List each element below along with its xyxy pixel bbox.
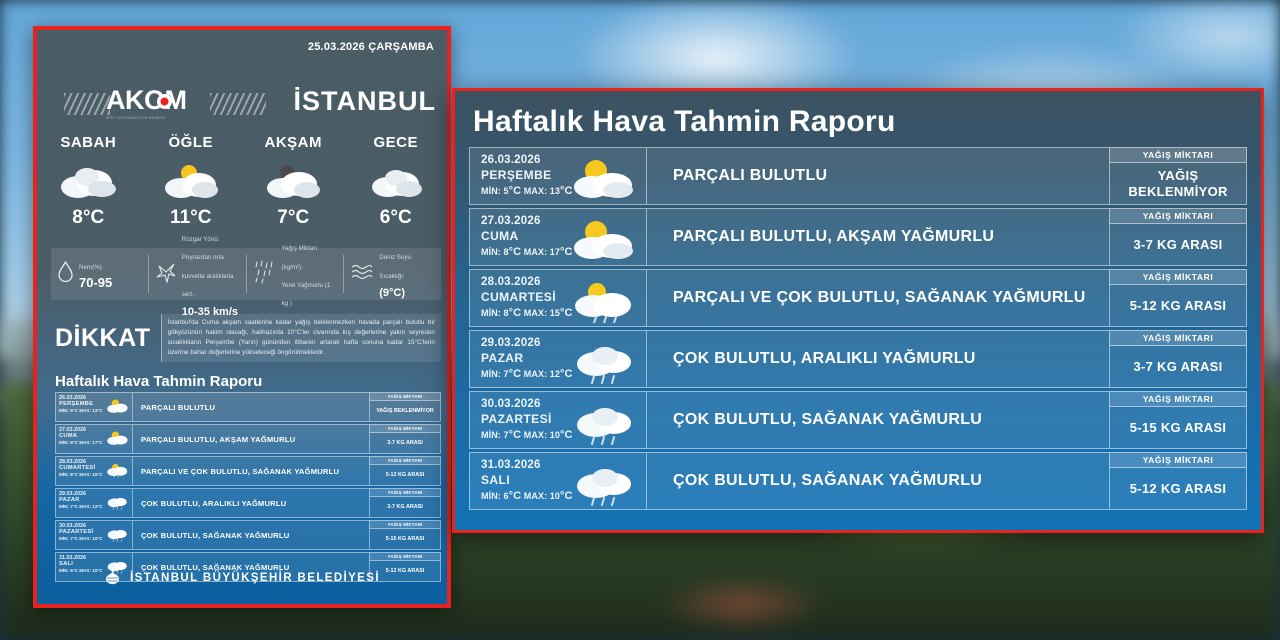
logo-o-ring-icon bbox=[157, 94, 172, 109]
precip-value: 5-12 KG ARASI bbox=[1109, 468, 1247, 510]
row-description: PARÇALI BULUTLU bbox=[133, 392, 369, 422]
info-note: Yerel Yağmurlu (1 kg ) bbox=[282, 282, 331, 307]
precip-value: 5-12 KG ARASI bbox=[1109, 285, 1247, 327]
row-day-cell: 27.03.2026 CUMA MİN: 8°C MAX: 17°C bbox=[469, 208, 647, 266]
warning-section: DİKKAT İstanbul'da Cuma akşam saatlerine… bbox=[55, 314, 441, 362]
row-day-cell: 28.03.2026 CUMARTESİ MİN: 8°C MAX: 15°C bbox=[469, 269, 647, 327]
row-day-cell: 29.03.2026 PAZAR MİN: 7°C MAX: 12°C bbox=[55, 488, 133, 518]
row-description: PARÇALI VE ÇOK BULUTLU, SAĞANAK YAĞMURLU bbox=[647, 269, 1109, 327]
daypart-sabah: SABAH 8°C bbox=[37, 134, 140, 229]
precip-value: 5-15 KG ARASI bbox=[1109, 407, 1247, 449]
row-day-cell: 26.03.2026 PERŞEMBE MİN: 5°C MAX: 13°C bbox=[55, 392, 133, 422]
info-value: 70-95 bbox=[79, 275, 112, 290]
precip-header: YAĞIŞ MİKTARI bbox=[369, 552, 441, 561]
info-label: Yağış Miktarı (kg/m²): bbox=[282, 245, 318, 270]
sun-cloud-icon bbox=[566, 157, 638, 206]
sun-cloud-icon bbox=[104, 397, 130, 420]
row-precip-cell: YAĞIŞ MİKTARI 5-15 KG ARASI bbox=[1109, 391, 1247, 449]
conditions-info-strip: Nem(%): 70-95 Rüzgar Yönü: Poyrazdan ort… bbox=[51, 248, 441, 300]
sun-cloud-rain-icon bbox=[104, 461, 130, 484]
daypart-ogle: ÖĞLE 11°C bbox=[140, 134, 243, 229]
precip-header: YAĞIŞ MİKTARI bbox=[369, 456, 441, 465]
row-precip-cell: YAĞIŞ MİKTARI 5-12 KG ARASI bbox=[1109, 269, 1247, 327]
table-row: 26.03.2026 PERŞEMBE MİN: 5°C MAX: 13°C P… bbox=[55, 392, 441, 422]
row-description: PARÇALI BULUTLU, AKŞAM YAĞMURLU bbox=[133, 424, 369, 454]
sun-cloud-rain-icon bbox=[566, 279, 638, 328]
overlay-title: Haftalık Hava Tahmin Raporu bbox=[473, 105, 1261, 139]
logo-subtitle: AFET KOORDİNASYON MERKEZİ bbox=[106, 116, 166, 120]
precip-header: YAĞIŞ MİKTARI bbox=[369, 520, 441, 529]
logo-wordmark: AKOM bbox=[106, 87, 187, 114]
cloud-night-icon bbox=[242, 157, 345, 205]
wind-vane-icon bbox=[156, 261, 176, 288]
daypart-label: ÖĞLE bbox=[140, 134, 243, 151]
info-wind: Rüzgar Yönü: Poyrazdan orta kuvvette ara… bbox=[149, 255, 247, 293]
row-day-cell: 27.03.2026 CUMA MİN: 8°C MAX: 17°C bbox=[55, 424, 133, 454]
row-description: PARÇALI BULUTLU, AKŞAM YAĞMURLU bbox=[647, 208, 1109, 266]
row-precip-cell: YAĞIŞ MİKTARI 3-7 KG ARASI bbox=[369, 488, 441, 518]
row-description: PARÇALI VE ÇOK BULUTLU, SAĞANAK YAĞMURLU bbox=[133, 456, 369, 486]
weekly-forecast-overlay: Haftalık Hava Tahmin Raporu 26.03.2026 P… bbox=[452, 88, 1264, 533]
weekly-forecast-table: 26.03.2026 PERŞEMBE MİN: 5°C MAX: 13°C P… bbox=[469, 147, 1247, 510]
logo-hatch-left bbox=[64, 93, 110, 115]
precip-header: YAĞIŞ MİKTARI bbox=[369, 488, 441, 497]
info-label: Deniz Suyu Sıcaklığı: bbox=[379, 254, 411, 279]
logo-hatch-right bbox=[210, 93, 266, 115]
row-precip-cell: YAĞIŞ MİKTARI 3-7 KG ARASI bbox=[1109, 330, 1247, 388]
ibb-footer-text: İSTANBUL BÜYÜKŞEHİR BELEDİYESİ bbox=[130, 572, 380, 584]
humidity-drop-icon bbox=[58, 261, 73, 288]
row-day-cell: 30.03.2026 PAZARTESİ MİN: 7°C MAX: 10°C bbox=[469, 391, 647, 449]
info-label: Rüzgar Yönü: bbox=[182, 236, 220, 243]
precip-value: 3-7 KG ARASI bbox=[1109, 346, 1247, 388]
row-precip-cell: YAĞIŞ MİKTARI YAĞIŞ BEKLENMİYOR bbox=[1109, 147, 1247, 205]
precip-value: 5-15 KG ARASI bbox=[369, 529, 441, 550]
info-value: (9°C) bbox=[379, 287, 405, 299]
report-date: 25.03.2026 ÇARŞAMBA bbox=[308, 41, 434, 53]
row-description: ÇOK BULUTLU, ARALIKLI YAĞMURLU bbox=[133, 488, 369, 518]
info-label: Nem(%): bbox=[79, 264, 103, 271]
cloud-rain-icon bbox=[566, 340, 638, 389]
row-description: ÇOK BULUTLU, SAĞANAK YAĞMURLU bbox=[647, 452, 1109, 510]
precip-value: 3-7 KG ARASI bbox=[369, 497, 441, 518]
row-description: ÇOK BULUTLU, SAĞANAK YAĞMURLU bbox=[647, 391, 1109, 449]
precip-header: YAĞIŞ MİKTARI bbox=[369, 392, 441, 401]
row-precip-cell: YAĞIŞ MİKTARI 3-7 KG ARASI bbox=[369, 424, 441, 454]
precip-header: YAĞIŞ MİKTARI bbox=[1109, 330, 1247, 346]
mini-report-title: Haftalık Hava Tahmin Raporu bbox=[55, 373, 262, 390]
cloud-rain-icon bbox=[566, 462, 638, 511]
row-day-cell: 31.03.2026 SALI MİN: 6°C MAX: 10°C bbox=[469, 452, 647, 510]
table-row: 28.03.2026 CUMARTESİ MİN: 8°C MAX: 15°C … bbox=[55, 456, 441, 486]
ibb-footer: İSTANBUL BÜYÜKŞEHİR BELEDİYESİ bbox=[37, 566, 447, 590]
sun-cloud-icon bbox=[104, 429, 130, 452]
dayparts-strip: SABAH 8°C ÖĞLE 11°C AKŞAM 7°C GECE 6 bbox=[37, 134, 447, 229]
warning-title: DİKKAT bbox=[55, 314, 151, 353]
info-precipitation: Yağış Miktarı (kg/m²): Yerel Yağmurlu (1… bbox=[247, 255, 345, 293]
row-precip-cell: YAĞIŞ MİKTARI 5-12 KG ARASI bbox=[369, 456, 441, 486]
precip-value: 5-12 KG ARASI bbox=[369, 465, 441, 486]
precip-value: YAĞIŞ BEKLENMİYOR bbox=[1109, 163, 1247, 205]
daypart-temp: 6°C bbox=[345, 207, 448, 229]
table-row: 29.03.2026 PAZAR MİN: 7°C MAX: 12°C ÇOK … bbox=[469, 330, 1247, 388]
row-precip-cell: YAĞIŞ MİKTARI 3-7 KG ARASI bbox=[1109, 208, 1247, 266]
precip-header: YAĞIŞ MİKTARI bbox=[1109, 208, 1247, 224]
row-description: ÇOK BULUTLU, ARALIKLI YAĞMURLU bbox=[647, 330, 1109, 388]
table-row: 26.03.2026 PERŞEMBE MİN: 5°C MAX: 13°C P… bbox=[469, 147, 1247, 205]
precip-header: YAĞIŞ MİKTARI bbox=[1109, 147, 1247, 163]
row-description: ÇOK BULUTLU, SAĞANAK YAĞMURLU bbox=[133, 520, 369, 550]
cloud-rain-icon bbox=[566, 401, 638, 450]
wave-icon bbox=[351, 263, 373, 286]
info-sea-temperature: Deniz Suyu Sıcaklığı: (9°C) bbox=[344, 255, 441, 293]
table-row: 27.03.2026 CUMA MİN: 8°C MAX: 17°C PARÇA… bbox=[469, 208, 1247, 266]
daypart-label: GECE bbox=[345, 134, 448, 151]
rain-icon bbox=[254, 260, 276, 289]
row-day-cell: 29.03.2026 PAZAR MİN: 7°C MAX: 12°C bbox=[469, 330, 647, 388]
cloud-rain-icon bbox=[104, 525, 130, 548]
daypart-temp: 8°C bbox=[37, 207, 140, 229]
table-row: 30.03.2026 PAZARTESİ MİN: 7°C MAX: 10°C … bbox=[55, 520, 441, 550]
row-day-cell: 26.03.2026 PERŞEMBE MİN: 5°C MAX: 13°C bbox=[469, 147, 647, 205]
precip-value: YAĞIŞ BEKLENMİYOR bbox=[369, 401, 441, 422]
table-row: 30.03.2026 PAZARTESİ MİN: 7°C MAX: 10°C … bbox=[469, 391, 1247, 449]
precip-header: YAĞIŞ MİKTARI bbox=[1109, 269, 1247, 285]
precip-header: YAĞIŞ MİKTARI bbox=[369, 424, 441, 433]
daypart-temp: 11°C bbox=[140, 207, 243, 229]
table-row: 28.03.2026 CUMARTESİ MİN: 8°C MAX: 15°C … bbox=[469, 269, 1247, 327]
daypart-aksam: AKŞAM 7°C bbox=[242, 134, 345, 229]
precip-header: YAĞIŞ MİKTARI bbox=[1109, 391, 1247, 407]
akom-logo: AKOM AFET KOORDİNASYON MERKEZİ bbox=[64, 85, 264, 127]
info-note: Poyrazdan orta kuvvette aralıklarla sert… bbox=[182, 254, 234, 298]
city-name: İSTANBUL bbox=[294, 88, 437, 115]
mini-forecast-table: 26.03.2026 PERŞEMBE MİN: 5°C MAX: 13°C P… bbox=[55, 392, 441, 584]
row-precip-cell: YAĞIŞ MİKTARI 5-12 KG ARASI bbox=[1109, 452, 1247, 510]
row-precip-cell: YAĞIŞ MİKTARI 5-15 KG ARASI bbox=[369, 520, 441, 550]
sun-cloud-icon bbox=[140, 157, 243, 205]
row-day-cell: 30.03.2026 PAZARTESİ MİN: 7°C MAX: 10°C bbox=[55, 520, 133, 550]
daypart-label: AKŞAM bbox=[242, 134, 345, 151]
weather-report-card: 25.03.2026 ÇARŞAMBA İSTANBUL AKOM AFET K… bbox=[33, 26, 451, 608]
table-row: 27.03.2026 CUMA MİN: 8°C MAX: 17°C PARÇA… bbox=[55, 424, 441, 454]
warning-text: İstanbul'da Cuma akşam saatlerine kadar … bbox=[161, 314, 441, 362]
sun-cloud-icon bbox=[566, 218, 638, 267]
table-row: 31.03.2026 SALI MİN: 6°C MAX: 10°C ÇOK B… bbox=[469, 452, 1247, 510]
daypart-gece: GECE 6°C bbox=[345, 134, 448, 229]
cloud-rain-icon bbox=[104, 493, 130, 516]
table-row: 29.03.2026 PAZAR MİN: 7°C MAX: 12°C ÇOK … bbox=[55, 488, 441, 518]
precip-header: YAĞIŞ MİKTARI bbox=[1109, 452, 1247, 468]
daypart-label: SABAH bbox=[37, 134, 140, 151]
row-description: PARÇALI BULUTLU bbox=[647, 147, 1109, 205]
row-day-cell: 28.03.2026 CUMARTESİ MİN: 8°C MAX: 15°C bbox=[55, 456, 133, 486]
info-humidity: Nem(%): 70-95 bbox=[51, 255, 149, 293]
cloud-icon bbox=[345, 157, 448, 205]
ibb-logo-icon bbox=[104, 566, 121, 590]
precip-value: 3-7 KG ARASI bbox=[1109, 224, 1247, 266]
precip-value: 3-7 KG ARASI bbox=[369, 433, 441, 454]
daypart-temp: 7°C bbox=[242, 207, 345, 229]
cloud-icon bbox=[37, 157, 140, 205]
row-precip-cell: YAĞIŞ MİKTARI YAĞIŞ BEKLENMİYOR bbox=[369, 392, 441, 422]
